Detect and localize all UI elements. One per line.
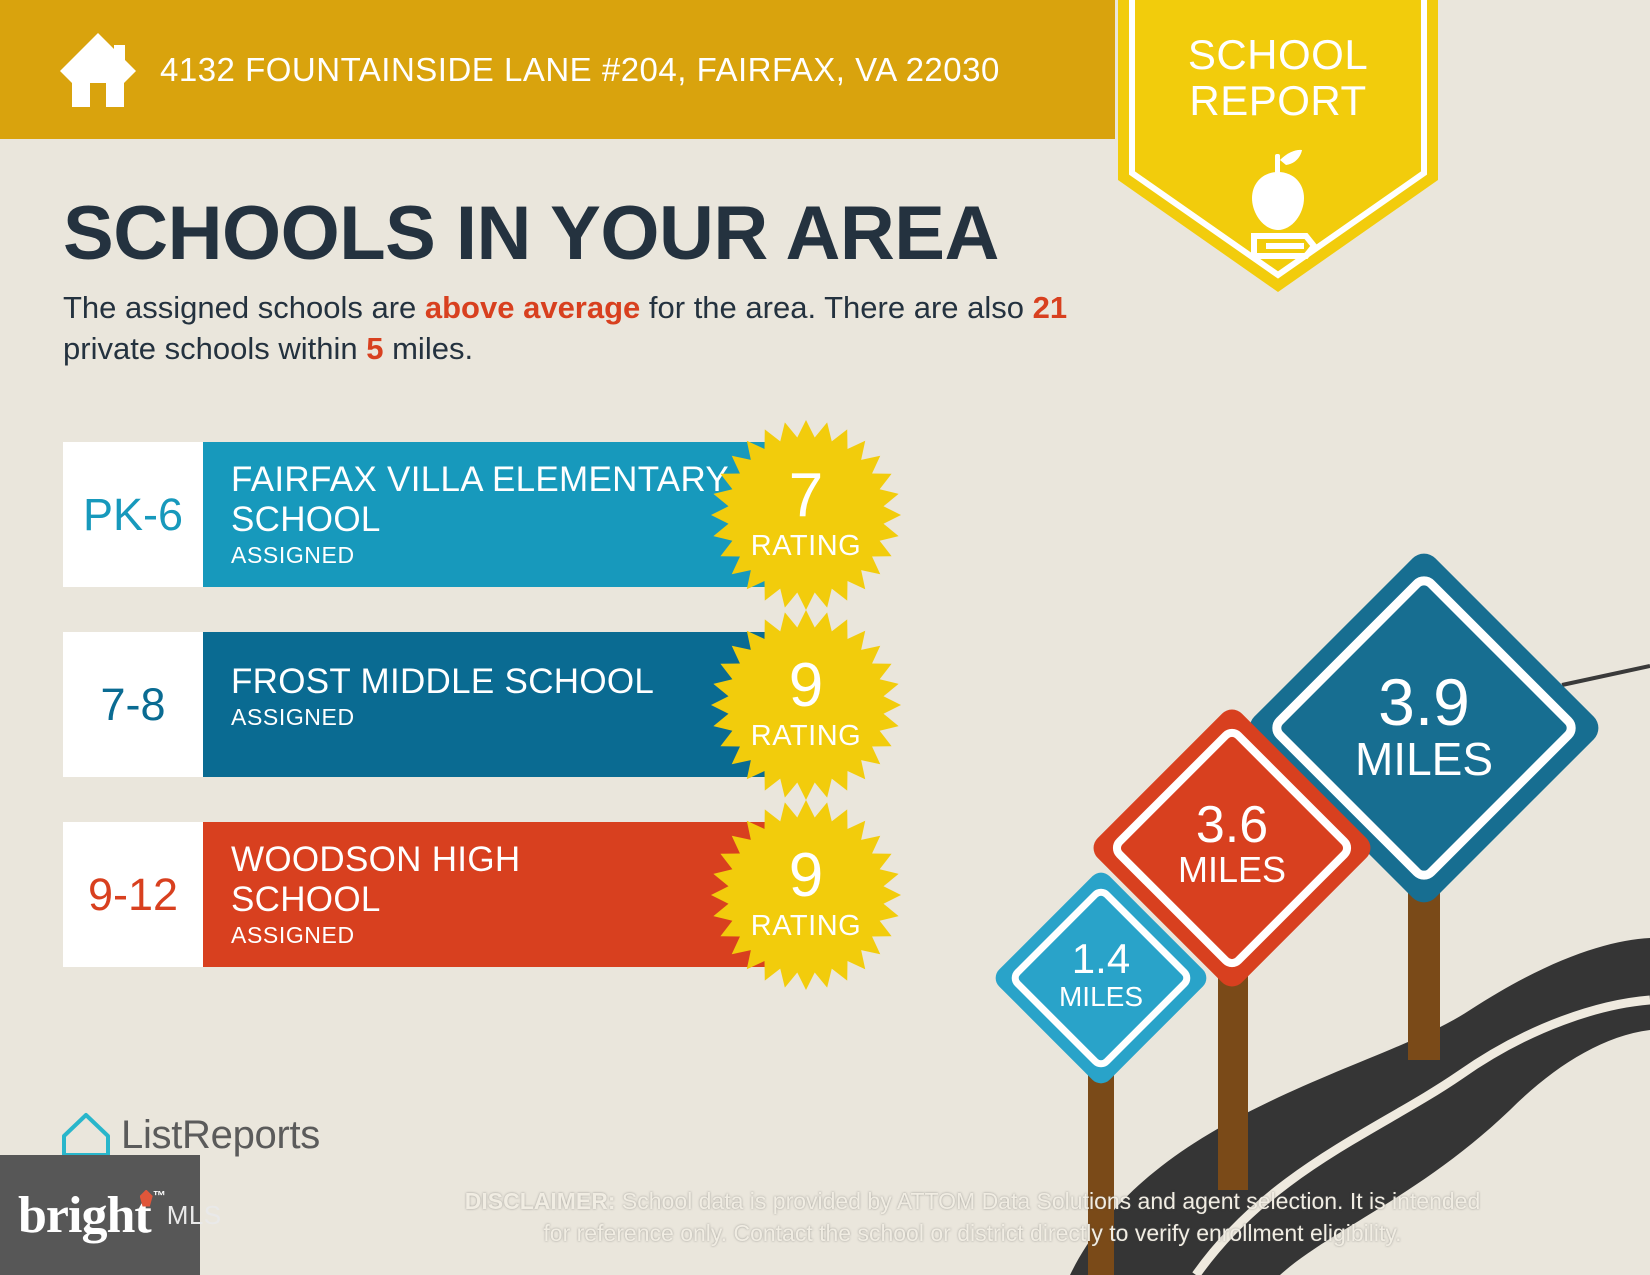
school-name: FAIRFAX VILLA ELEMENTARY SCHOOL — [231, 460, 778, 540]
starburst-shape — [711, 610, 901, 800]
disclaimer-body: School data is provided by ATTOM Data So… — [543, 1188, 1480, 1246]
subtitle: The assigned schools are above average f… — [63, 287, 1093, 369]
sign-distance-value: 3.9 — [1378, 665, 1470, 739]
bright-mls-word: bright™ — [18, 1186, 151, 1245]
trademark-symbol: ™ — [153, 1188, 165, 1203]
school-report-badge: SCHOOL REPORT — [1118, 0, 1438, 292]
property-address: 4132 FOUNTAINSIDE LANE #204, FAIRFAX, VA… — [160, 51, 1000, 89]
road-signs-illustration: 3.9 MILES 3.6 MILES 1.4 MILES — [950, 470, 1650, 1275]
grade-range-label: 7-8 — [100, 679, 165, 731]
sign-distance-unit: MILES — [1178, 849, 1286, 890]
badge-line-1: SCHOOL — [1118, 32, 1438, 78]
school-info-bar: FAIRFAX VILLA ELEMENTARY SCHOOL ASSIGNED — [203, 442, 778, 587]
starburst-shape — [711, 420, 901, 610]
rating-starburst-badge: 7 RATING — [711, 420, 901, 610]
house-outline-icon — [60, 1110, 112, 1160]
starburst-shape — [711, 800, 901, 990]
school-row[interactable]: 7-8 FROST MIDDLE SCHOOL ASSIGNED 9 RATIN… — [63, 632, 853, 777]
subtitle-highlight-rating: above average — [425, 290, 640, 325]
school-status: ASSIGNED — [231, 542, 778, 569]
mls-label: MLS — [167, 1200, 222, 1231]
subtitle-part-2: for the area. There are also — [640, 290, 1032, 325]
subtitle-part-1: The assigned schools are — [63, 290, 425, 325]
subtitle-part-3: private schools within — [63, 331, 366, 366]
sign-distance-value: 3.6 — [1196, 796, 1268, 854]
school-info-bar: FROST MIDDLE SCHOOL ASSIGNED — [203, 632, 778, 777]
school-status: ASSIGNED — [231, 704, 778, 731]
grade-range-label: 9-12 — [88, 869, 178, 921]
school-row[interactable]: PK-6 FAIRFAX VILLA ELEMENTARY SCHOOL ASS… — [63, 442, 853, 587]
road-svg: 3.9 MILES 3.6 MILES 1.4 MILES — [950, 470, 1650, 1275]
subtitle-part-4: miles. — [384, 331, 474, 366]
bright-word-text: bright — [18, 1187, 151, 1244]
badge-line-2: REPORT — [1118, 78, 1438, 124]
grade-range-box: 9-12 — [63, 822, 203, 967]
home-icon — [58, 31, 138, 109]
wire-line — [1562, 666, 1650, 685]
subtitle-highlight-miles: 5 — [366, 331, 383, 366]
disclaimer-label: DISCLAIMER: — [465, 1188, 616, 1214]
school-info-bar: WOODSON HIGH SCHOOL ASSIGNED — [203, 822, 778, 967]
school-name: FROST MIDDLE SCHOOL — [231, 662, 778, 702]
rating-starburst-badge: 9 RATING — [711, 610, 901, 800]
sign-distance-value: 1.4 — [1072, 935, 1130, 982]
page-title: SCHOOLS IN YOUR AREA — [63, 190, 999, 277]
bright-mls-logo: bright™ MLS — [0, 1155, 200, 1275]
disclaimer-text: DISCLAIMER: School data is provided by A… — [455, 1185, 1490, 1249]
rating-starburst-badge: 9 RATING — [711, 800, 901, 990]
school-row[interactable]: 9-12 WOODSON HIGH SCHOOL ASSIGNED 9 RATI… — [63, 822, 853, 967]
school-name: WOODSON HIGH SCHOOL — [231, 840, 531, 920]
grade-range-label: PK-6 — [83, 489, 183, 541]
sign-distance-unit: MILES — [1059, 981, 1143, 1012]
school-status: ASSIGNED — [231, 922, 778, 949]
header-bar: 4132 FOUNTAINSIDE LANE #204, FAIRFAX, VA… — [0, 0, 1115, 139]
grade-range-box: PK-6 — [63, 442, 203, 587]
subtitle-highlight-count: 21 — [1033, 290, 1067, 325]
sign-distance-unit: MILES — [1355, 733, 1493, 785]
grade-range-box: 7-8 — [63, 632, 203, 777]
listreports-name: ListReports — [121, 1113, 320, 1158]
badge-text-block: SCHOOL REPORT — [1118, 32, 1438, 124]
listreports-logo: ListReports — [60, 1110, 320, 1160]
